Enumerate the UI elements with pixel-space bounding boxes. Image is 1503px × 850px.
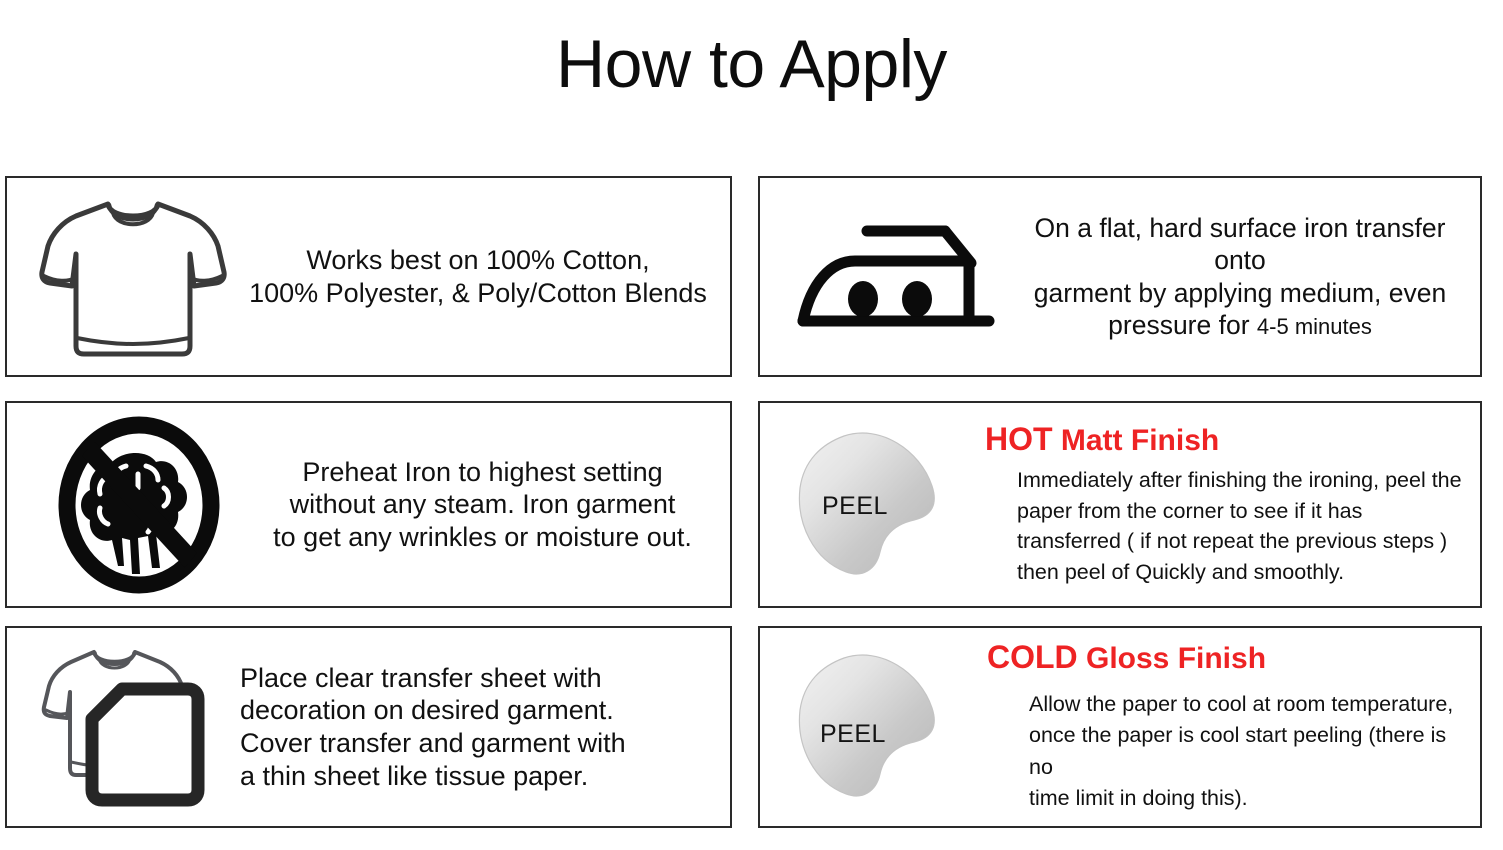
panel-fabric: Works best on 100% Cotton, 100% Polyeste… [5, 176, 732, 377]
panel-iron-transfer: On a flat, hard surface iron transfer on… [758, 176, 1482, 377]
panel-no-steam-text: Preheat Iron to highest setting without … [249, 456, 730, 554]
text-line: Allow the paper to cool at room temperat… [1029, 689, 1464, 720]
text-line: then peel of Quickly and smoothly. [1017, 557, 1464, 588]
text-line: Preheat Iron to highest setting [249, 456, 716, 489]
text-line: without any steam. Iron garment [249, 488, 716, 521]
peel-sheet-icon: PEEL [760, 642, 977, 812]
text-line: decoration on desired garment. [240, 694, 730, 727]
text-line: Immediately after finishing the ironing,… [1017, 465, 1464, 496]
panel-place-sheet-text: Place clear transfer sheet with decorati… [232, 662, 730, 793]
text-line: Place clear transfer sheet with [240, 662, 730, 695]
text-line: garment by applying medium, even [1010, 277, 1470, 309]
heading-rest: Matt Finish [1053, 424, 1220, 457]
page-title: How to Apply [0, 30, 1503, 98]
panel-fabric-text: Works best on 100% Cotton, 100% Polyeste… [240, 244, 730, 309]
panel-no-steam: Preheat Iron to highest setting without … [5, 401, 732, 608]
text-line: a thin sheet like tissue paper. [240, 760, 730, 793]
text-line-with-emphasis: pressure for 4-5 minutes [1010, 309, 1470, 341]
heading-strong: COLD [987, 639, 1078, 675]
text-line: transferred ( if not repeat the previous… [1017, 526, 1464, 557]
peel-sheet-icon: PEEL [760, 420, 977, 590]
panel-cold-peel: PEEL COLD Gloss Finish Allow the paper t… [758, 626, 1482, 828]
panel-cold-peel-body: COLD Gloss Finish Allow the paper to coo… [977, 640, 1480, 815]
text-line: 100% Polyester, & Poly/Cotton Blends [240, 277, 716, 310]
panel-place-sheet: Place clear transfer sheet with decorati… [5, 626, 732, 828]
hot-peel-description: Immediately after finishing the ironing,… [1017, 465, 1464, 587]
text-line: On a flat, hard surface iron transfer on… [1010, 212, 1470, 276]
text-line: paper from the corner to see if it has [1017, 496, 1464, 527]
peel-label: PEEL [822, 492, 888, 521]
pressure-prefix: pressure for [1108, 310, 1257, 340]
peel-label: PEEL [820, 720, 886, 749]
hot-peel-heading: HOT Matt Finish [985, 422, 1464, 457]
panel-hot-peel: PEEL HOT Matt Finish Immediately after f… [758, 401, 1482, 608]
text-line: to get any wrinkles or moisture out. [249, 521, 716, 554]
cold-peel-heading: COLD Gloss Finish [987, 640, 1464, 675]
heading-strong: HOT [985, 421, 1053, 457]
panel-iron-transfer-text: On a flat, hard surface iron transfer on… [1010, 212, 1480, 340]
tshirt-with-sheet-icon [7, 642, 232, 812]
text-line: time limit in doing this). [1029, 783, 1464, 814]
cold-peel-description: Allow the paper to cool at room temperat… [1029, 689, 1464, 815]
panel-hot-peel-body: HOT Matt Finish Immediately after finish… [977, 422, 1480, 587]
text-line: Cover transfer and garment with [240, 727, 730, 760]
iron-icon [760, 217, 1010, 337]
no-steam-icon [7, 416, 249, 594]
text-line: once the paper is cool start peeling (th… [1029, 720, 1464, 783]
tshirt-icon [7, 194, 240, 359]
duration-value: 4-5 minutes [1257, 314, 1372, 339]
heading-rest: Gloss Finish [1078, 642, 1266, 675]
instruction-panel-grid: Works best on 100% Cotton, 100% Polyeste… [5, 176, 1482, 828]
text-line: Works best on 100% Cotton, [240, 244, 716, 277]
